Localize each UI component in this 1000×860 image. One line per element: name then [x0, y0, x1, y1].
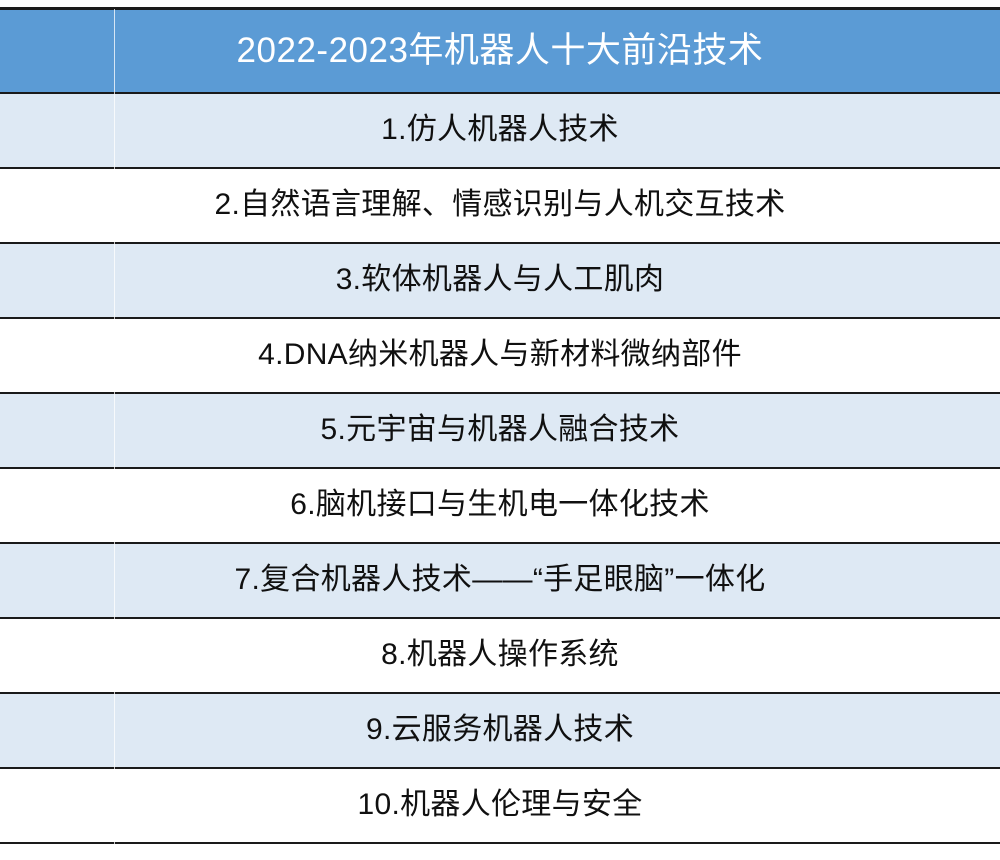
page-title: 2022-2023年机器人十大前沿技术	[0, 32, 1000, 71]
table-row[interactable]: 5.元宇宙与机器人融合技术	[0, 393, 1000, 468]
table-row[interactable]: 7.复合机器人技术——“手足眼脑”一体化	[0, 543, 1000, 618]
table-row[interactable]: 3.软体机器人与人工肌肉	[0, 243, 1000, 318]
table-row[interactable]: 2.自然语言理解、情感识别与人机交互技术	[0, 168, 1000, 243]
table-row[interactable]: 10.机器人伦理与安全	[0, 768, 1000, 843]
technology-cell-7[interactable]: 7.复合机器人技术——“手足眼脑”一体化	[0, 543, 1000, 618]
technology-cell-2[interactable]: 2.自然语言理解、情感识别与人机交互技术	[0, 168, 1000, 243]
technology-label-6: 6.脑机接口与生机电一体化技术	[0, 488, 1000, 523]
technology-cell-6[interactable]: 6.脑机接口与生机电一体化技术	[0, 468, 1000, 543]
technology-label-1: 1.仿人机器人技术	[0, 113, 1000, 148]
technology-cell-8[interactable]: 8.机器人操作系统	[0, 618, 1000, 693]
technology-label-10: 10.机器人伦理与安全	[0, 788, 1000, 823]
technology-label-4: 4.DNA纳米机器人与新材料微纳部件	[0, 338, 1000, 373]
technology-label-8: 8.机器人操作系统	[0, 638, 1000, 673]
table-row[interactable]: 4.DNA纳米机器人与新材料微纳部件	[0, 318, 1000, 393]
technology-cell-10[interactable]: 10.机器人伦理与安全	[0, 768, 1000, 843]
technology-cell-1[interactable]: 1.仿人机器人技术	[0, 93, 1000, 168]
technology-label-7: 7.复合机器人技术——“手足眼脑”一体化	[0, 563, 1000, 598]
table-header-row: 2022-2023年机器人十大前沿技术	[0, 9, 1000, 93]
table-title-cell: 2022-2023年机器人十大前沿技术	[0, 9, 1000, 93]
technology-cell-3[interactable]: 3.软体机器人与人工肌肉	[0, 243, 1000, 318]
table-row[interactable]: 8.机器人操作系统	[0, 618, 1000, 693]
table-row[interactable]: 1.仿人机器人技术	[0, 93, 1000, 168]
technology-label-3: 3.软体机器人与人工肌肉	[0, 263, 1000, 298]
technology-cell-4[interactable]: 4.DNA纳米机器人与新材料微纳部件	[0, 318, 1000, 393]
technology-cell-9[interactable]: 9.云服务机器人技术	[0, 693, 1000, 768]
table-row[interactable]: 6.脑机接口与生机电一体化技术	[0, 468, 1000, 543]
technology-label-9: 9.云服务机器人技术	[0, 713, 1000, 748]
table-row[interactable]: 9.云服务机器人技术	[0, 693, 1000, 768]
technology-cell-5[interactable]: 5.元宇宙与机器人融合技术	[0, 393, 1000, 468]
technology-label-2: 2.自然语言理解、情感识别与人机交互技术	[0, 188, 1000, 223]
page-root: 2022-2023年机器人十大前沿技术 1.仿人机器人技术 2.自然语言理解、情…	[0, 0, 1000, 860]
technology-label-5: 5.元宇宙与机器人融合技术	[0, 413, 1000, 448]
top-technologies-table: 2022-2023年机器人十大前沿技术 1.仿人机器人技术 2.自然语言理解、情…	[0, 7, 1000, 844]
